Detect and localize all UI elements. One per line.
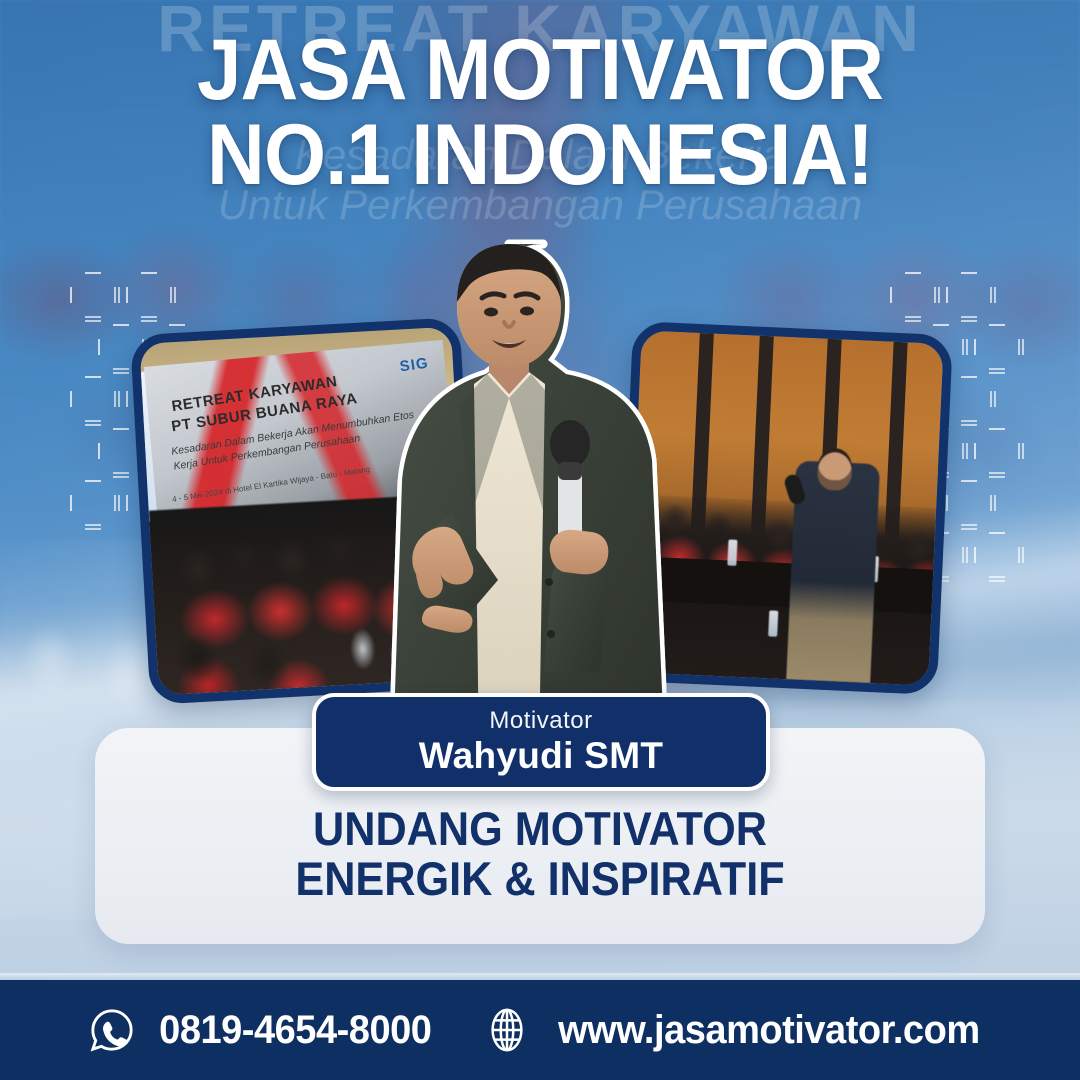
tagline-line-2: ENERGIK & INSPIRATIF [131, 854, 950, 904]
globe-icon [484, 1007, 530, 1053]
tagline: UNDANG MOTIVATOR ENERGIK & INSPIRATIF [131, 804, 950, 904]
motivator-name: Wahyudi SMT [419, 737, 663, 776]
headline-line-2: NO.1 INDONESIA! [38, 113, 1042, 198]
whatsapp-phone-icon [89, 1007, 135, 1053]
phone-number: 0819-4654-8000 [159, 1008, 431, 1053]
photo-right-speaker-head [817, 451, 853, 491]
website-url: www.jasamotivator.com [559, 1008, 981, 1053]
tagline-line-1: UNDANG MOTIVATOR [131, 804, 950, 854]
contact-phone[interactable]: 0819-4654-8000 [89, 1007, 439, 1053]
photo-right-water-bottle [768, 610, 778, 636]
photo-right-water-bottle [727, 540, 737, 566]
motivator-role-label: Motivator [489, 709, 592, 733]
footer-top-divider [0, 973, 1080, 980]
headline-line-1: JASA MOTIVATOR [38, 28, 1042, 113]
motivator-name-badge: Motivator Wahyudi SMT [312, 693, 770, 791]
contact-footer-bar: 0819-4654-8000 www.jasamotivator.com [0, 980, 1080, 1080]
page-title: JASA MOTIVATOR NO.1 INDONESIA! [38, 28, 1042, 198]
contact-website[interactable]: www.jasamotivator.com [484, 1007, 991, 1053]
poster-canvas: RETREAT KARYAWAN Kesadaran Dalam Bekerja… [0, 0, 1080, 1080]
